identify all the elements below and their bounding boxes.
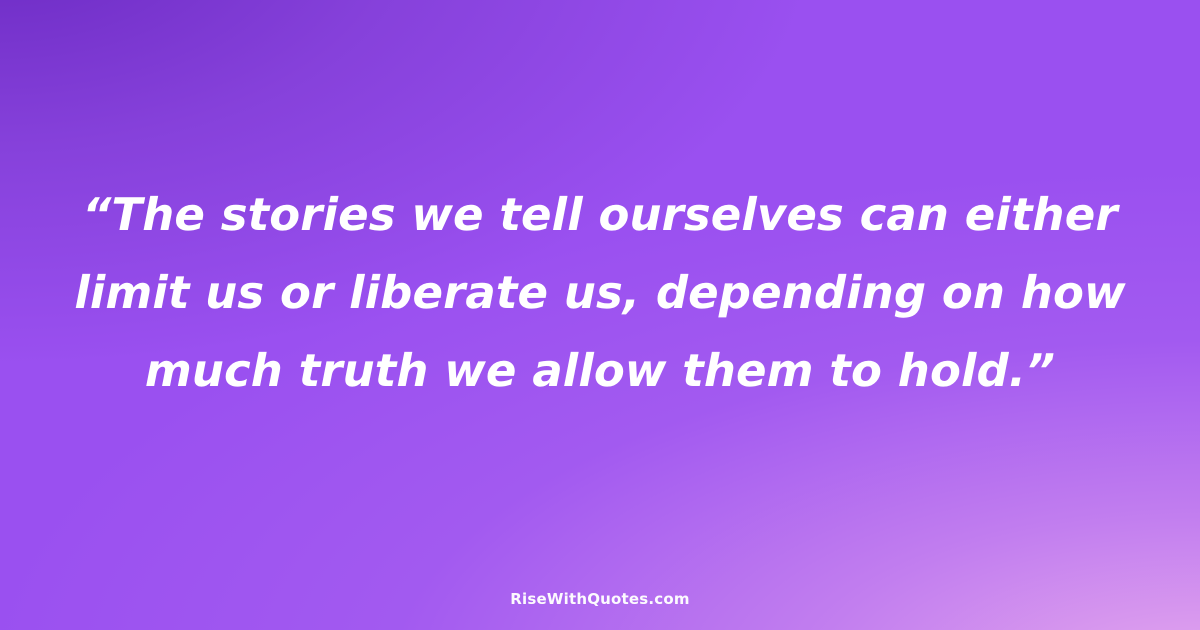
footer-bar: RiseWithQuotes.com	[0, 589, 1200, 608]
quote-block: “The stories we tell ourselves can eithe…	[70, 176, 1130, 410]
quote-text: “The stories we tell ourselves can eithe…	[70, 176, 1130, 410]
quote-card: “The stories we tell ourselves can eithe…	[0, 0, 1200, 630]
site-attribution: RiseWithQuotes.com	[510, 590, 689, 608]
